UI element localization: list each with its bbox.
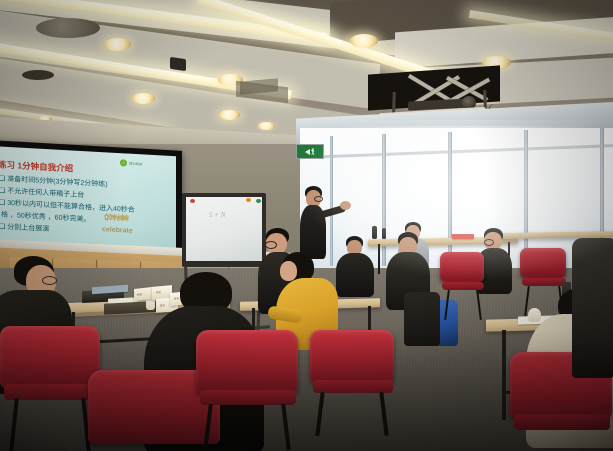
slide-decoration-flowers: ✿❁✾❀✽❃	[104, 212, 128, 225]
ceiling-speaker-1	[36, 18, 100, 38]
whiteboard-writing: 5 + N	[209, 211, 225, 219]
chair-backrest	[196, 330, 298, 394]
chair-mid-right[interactable]	[310, 330, 402, 440]
attendee-3-head	[280, 261, 297, 281]
bullet-text-4: 分别上台展演	[7, 224, 49, 233]
training-room-photo: 培训机构 练习 1分钟自我介绍 ❑ 准备时间5分钟(3分钟写2分钟练) ❑ 不允…	[0, 0, 613, 451]
chair-backrest	[440, 252, 484, 282]
downlight-3	[132, 93, 155, 104]
chair-leg-2	[379, 392, 388, 436]
slide-logo-text: 培训机构	[129, 161, 143, 167]
chair-seat	[442, 282, 484, 290]
chair-backrest	[310, 330, 394, 384]
ceiling-speaker-2	[22, 70, 54, 80]
window-mullion-3	[448, 132, 452, 266]
downlight-4	[219, 110, 240, 120]
bullet-marker-4: ❑	[0, 223, 5, 230]
bullet-text-1: 不允许任何人带稿子上台	[7, 188, 84, 199]
projection-screen: 培训机构 练习 1分钟自我介绍 ❑ 准备时间5分钟(3分钟写2分钟练) ❑ 不允…	[0, 146, 176, 252]
logo-mark-icon	[120, 159, 127, 166]
chair-leg-1	[315, 392, 324, 436]
name-tent-1: 姓名	[134, 287, 152, 301]
whiteboard-magnet-red	[190, 199, 195, 203]
slide-bullet-4: ❑ 分别上台展演	[0, 221, 49, 234]
chair-black-foreground-right[interactable]	[572, 238, 613, 378]
running-man-icon	[311, 148, 315, 155]
ceiling-sensor-icon	[170, 57, 186, 71]
slide-logo: 培训机构	[120, 159, 143, 167]
attendee-7-glasses-icon	[484, 239, 494, 246]
chair-seat	[313, 380, 393, 393]
back-table-right-leg-1	[378, 244, 380, 274]
coat-on-chair	[404, 292, 440, 346]
bullet-marker-1: ❑	[0, 187, 5, 194]
chair-seat	[200, 390, 296, 405]
chair-backrest	[520, 248, 566, 278]
chair-leg-2	[281, 404, 291, 450]
chair-backrest	[0, 326, 100, 388]
chair-leg-1	[9, 398, 19, 451]
whiteboard-magnet-green	[256, 199, 261, 203]
presenter-glasses-icon	[314, 196, 323, 202]
whiteboard-magnet-orange	[246, 198, 251, 202]
presenter-hand	[340, 201, 351, 210]
downlight-6	[350, 34, 378, 48]
chair-leg-1	[203, 404, 213, 450]
chair-leg-2	[476, 290, 482, 320]
bullet-marker-0: ❑	[0, 175, 5, 182]
attendee-1-glasses-icon	[42, 276, 57, 285]
chair-seat	[514, 414, 610, 430]
paper-stack-back	[452, 234, 474, 239]
fg-right-table-leg	[502, 330, 506, 420]
emergency-exit-sign	[296, 144, 324, 159]
attendee-4-glasses-icon	[265, 241, 277, 249]
chair-back-right-1[interactable]	[440, 252, 488, 322]
whiteboard-surface[interactable]	[186, 197, 262, 261]
slide-decoration-word: celebrate	[102, 226, 133, 235]
chair-mid-center[interactable]	[196, 330, 306, 450]
downlight-1	[104, 38, 131, 51]
chair-leg-1	[444, 290, 450, 320]
bullet-marker-2: ❑	[0, 199, 5, 206]
name-tent-1-text: 姓名	[137, 292, 142, 297]
exit-arrow-icon	[305, 149, 310, 155]
downlight-5	[258, 122, 275, 130]
chair-seat	[522, 278, 566, 286]
slide-title: 练习 1分钟自我介绍	[0, 158, 73, 174]
